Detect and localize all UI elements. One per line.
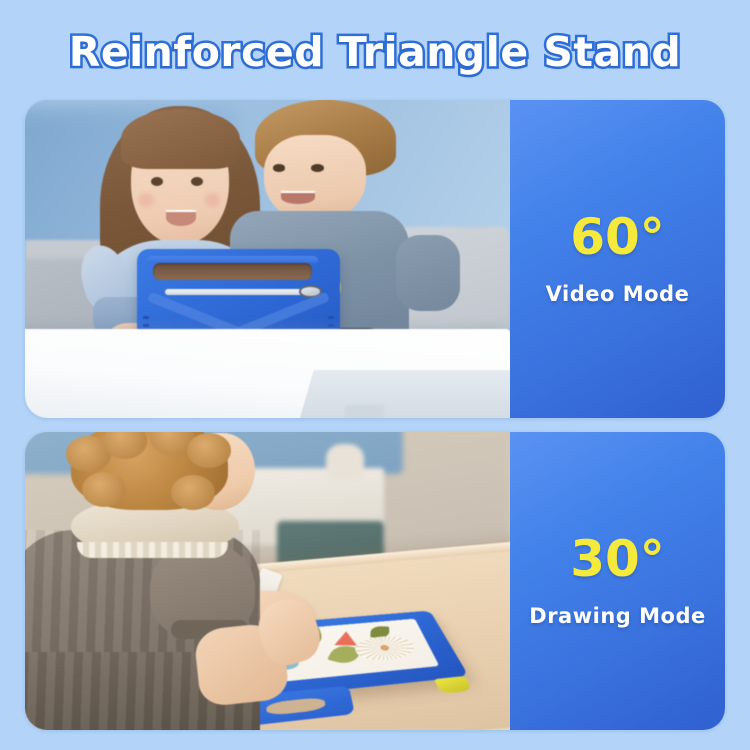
toddler-figure — [35, 432, 297, 730]
table-leg — [345, 405, 384, 418]
table-edge — [299, 370, 510, 418]
background-vase — [326, 444, 365, 480]
boy-sleeve — [396, 235, 460, 311]
mode-label-video: Video Mode — [546, 282, 690, 306]
mode-label-drawing: Drawing Mode — [529, 604, 705, 628]
info-block-drawing-mode: 30° Drawing Mode — [510, 432, 725, 730]
stylus-in-holder — [165, 289, 308, 295]
feature-panel-drawing-mode: 30° Drawing Mode — [25, 432, 725, 730]
info-block-video-mode: 60° Video Mode — [510, 100, 725, 418]
girl-cheek-left — [138, 193, 154, 207]
girl-hair-top — [121, 109, 240, 169]
boy-eye-right — [311, 164, 324, 172]
boy-face — [264, 135, 366, 223]
drawing-flower-petals — [352, 634, 419, 662]
page-title: Reinforced Triangle Stand — [0, 28, 750, 76]
photo-toddler-drawing-on-tablet — [25, 432, 510, 730]
angle-value-30: 30° — [570, 534, 665, 584]
feature-panel-video-mode: 60° Video Mode — [25, 100, 725, 418]
case-handle-bar — [147, 256, 318, 264]
product-feature-image: Reinforced Triangle Stand — [0, 0, 750, 750]
drawing-flower — [352, 634, 419, 662]
case-handle-opening — [153, 263, 312, 280]
boy-mouth — [281, 191, 315, 204]
hair-curl — [82, 472, 127, 507]
angle-value-60: 60° — [570, 212, 665, 262]
girl-eye-left — [151, 177, 163, 186]
drawing-coral-shape — [334, 631, 357, 646]
photo-two-kids-watching-tablet — [25, 100, 510, 418]
collar-lace-edge — [77, 542, 229, 558]
boy-eye-left — [273, 164, 286, 172]
